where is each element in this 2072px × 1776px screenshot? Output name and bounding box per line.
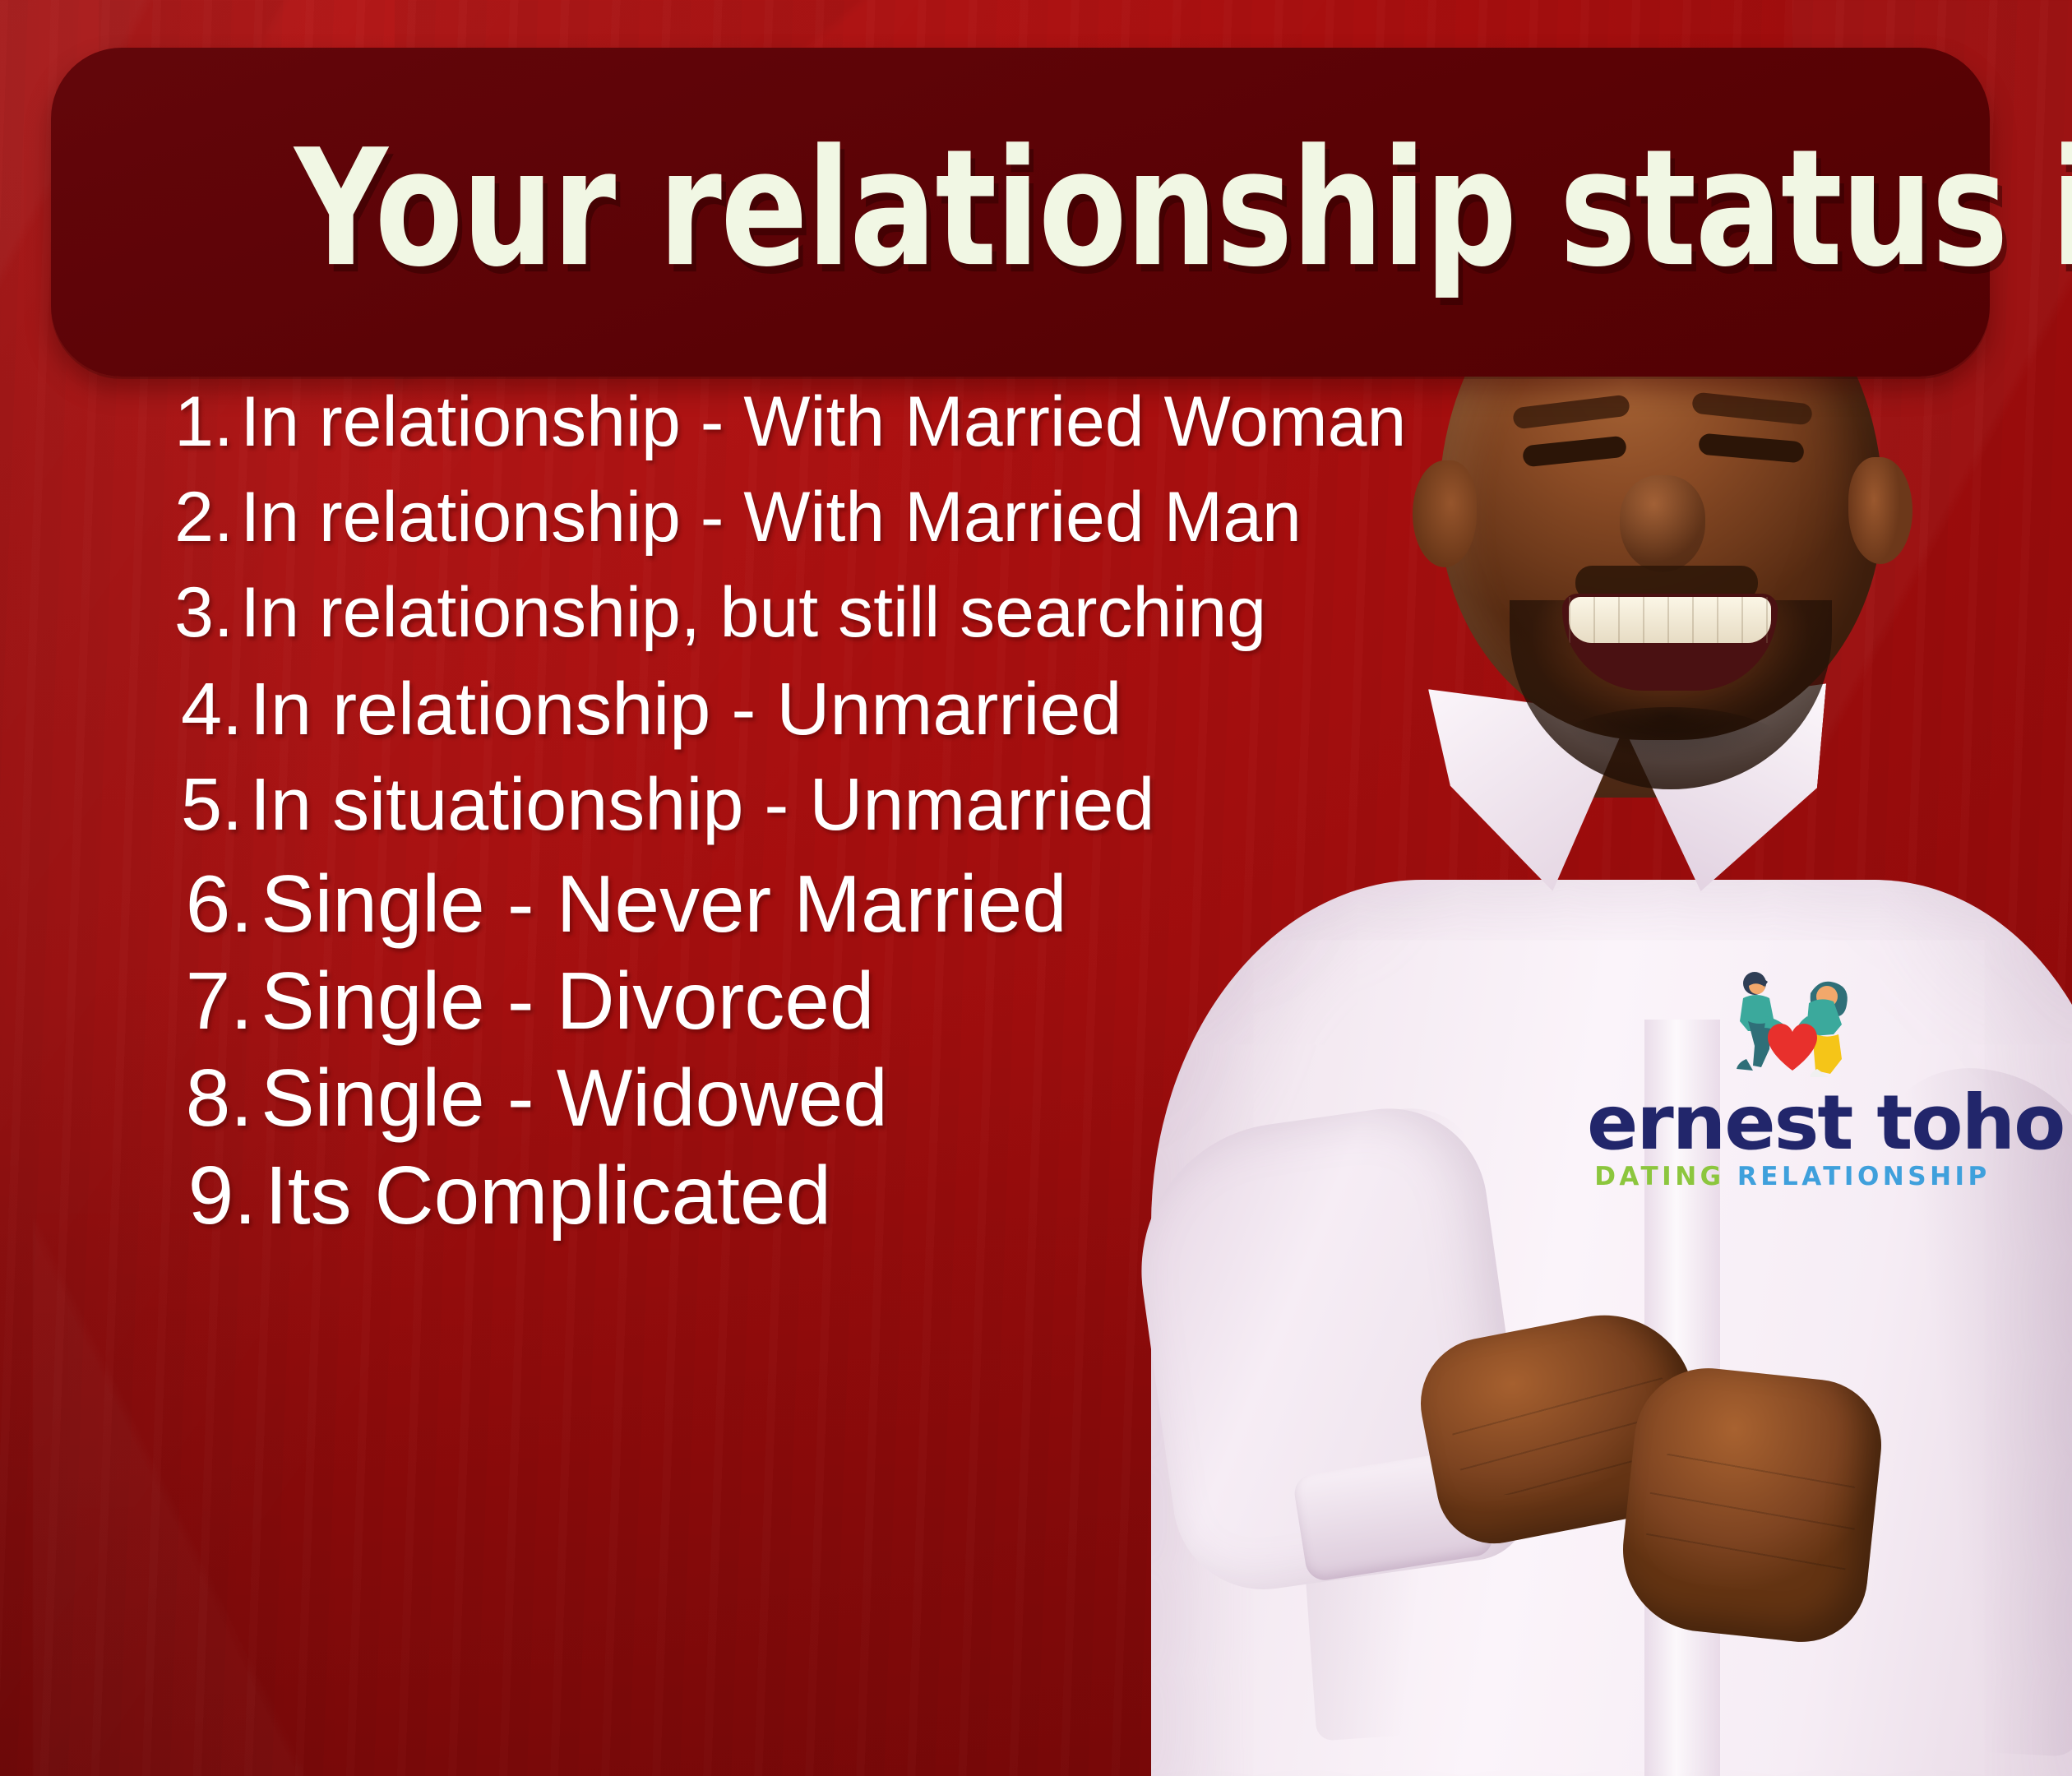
list-item[interactable]: 3. In relationship, but still searching — [90, 577, 1653, 648]
logo-tagline-dating: DATING — [1594, 1162, 1724, 1191]
list-item-label: In relationship - With Married Woman — [240, 386, 1406, 457]
list-item[interactable]: 1. In relationship - With Married Woman — [90, 386, 1653, 457]
logo-tagline-relationship: RELATIONSHIP — [1737, 1162, 1991, 1191]
list-item-label: In relationship, but still searching — [240, 577, 1266, 648]
status-options-list: 1. In relationship - With Married Woman … — [90, 386, 1653, 1237]
list-item-label: In situationship - Unmarried — [250, 768, 1154, 842]
headline-banner: Your relationship status is? — [51, 48, 1990, 377]
page-title-text: Your relationship status is? — [294, 132, 2072, 285]
list-item-number: 5. — [146, 768, 243, 842]
list-item-label: Single - Never Married — [261, 863, 1066, 944]
list-item[interactable]: 4. In relationship - Unmarried — [90, 673, 1653, 747]
poster-canvas: Your relationship status is? 1. In relat… — [0, 0, 2072, 1776]
list-item-number: 4. — [146, 673, 243, 747]
list-item[interactable]: 5. In situationship - Unmarried — [90, 768, 1653, 842]
logo-tagline: DATING RELATIONSHIP — [1587, 1162, 1998, 1191]
list-item[interactable]: 6. Single - Never Married — [90, 863, 1653, 944]
couple-heart-icon — [1694, 964, 1891, 1087]
list-item-number: 6. — [150, 863, 252, 944]
list-item-label: In relationship - Unmarried — [250, 673, 1122, 747]
heart-icon — [1766, 1023, 1819, 1072]
list-item[interactable]: 9. Its Complicated — [90, 1154, 1653, 1237]
list-item-number: 3. — [141, 577, 234, 648]
list-item-number: 8. — [150, 1057, 252, 1138]
list-item-number: 9. — [151, 1154, 257, 1237]
list-item-label: Single - Divorced — [261, 960, 874, 1041]
list-item-number: 7. — [150, 960, 252, 1041]
list-item-label: Single - Widowed — [261, 1057, 888, 1138]
brand-logo[interactable]: ernest toho DATING RELATIONSHIP — [1587, 964, 1998, 1191]
list-item-label: Its Complicated — [265, 1154, 831, 1237]
list-item-number: 2. — [141, 482, 234, 553]
list-item[interactable]: 2. In relationship - With Married Man — [90, 482, 1653, 553]
logo-wordmark: ernest toho — [1587, 1089, 1998, 1159]
list-item[interactable]: 8. Single - Widowed — [90, 1057, 1653, 1138]
list-item-label: In relationship - With Married Man — [240, 482, 1301, 553]
list-item-number: 1. — [141, 386, 234, 457]
list-item[interactable]: 7. Single - Divorced — [90, 960, 1653, 1041]
page-title: Your relationship status is? — [51, 136, 1990, 289]
